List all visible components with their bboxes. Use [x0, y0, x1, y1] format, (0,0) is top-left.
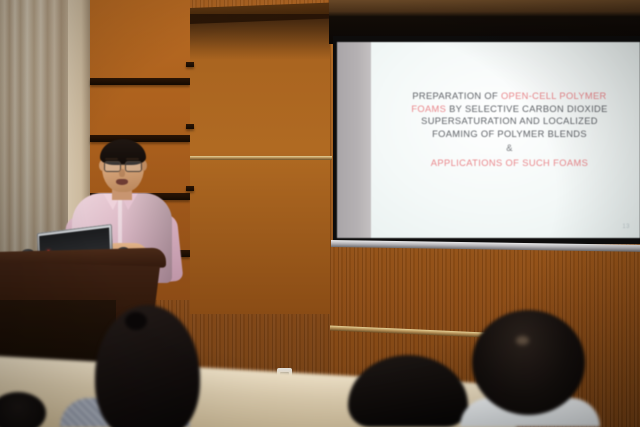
wall-groove-edge	[186, 186, 194, 191]
slide-line-final: APPLICATIONS OF SUCH FOAMS	[387, 157, 632, 170]
presenter-mouth	[116, 179, 128, 185]
glasses-bridge	[119, 164, 125, 165]
audience-member-right	[472, 310, 585, 415]
slide-line-2-normal: BY SELECTIVE CARBON DIOXIDE	[446, 104, 608, 114]
slide-line-1-normal: PREPARATION OF	[412, 91, 501, 101]
slide-line-1: PREPARATION OF OPEN-CELL POLYMER	[387, 90, 632, 103]
presenter-eyebrow-right	[126, 158, 139, 160]
glasses-lens-right	[125, 161, 142, 172]
slide-line-4: FOAMING OF POLYMER BLENDS	[387, 128, 632, 141]
slide-title-text: PREPARATION OF OPEN-CELL POLYMER FOAMS B…	[387, 90, 632, 169]
brass-trim	[190, 156, 332, 160]
slide-line-3: SUPERSATURATION AND LOCALIZED	[387, 115, 632, 128]
presenter-eyebrow-left	[105, 158, 118, 160]
wall-groove-edge	[186, 124, 194, 129]
projection-screen: PREPARATION OF OPEN-CELL POLYMER FOAMS B…	[337, 42, 640, 238]
slide-ampersand: &	[387, 142, 632, 155]
slide-line-2: FOAMS BY SELECTIVE CARBON DIOXIDE	[387, 103, 632, 116]
slide-line-1-highlight: OPEN-CELL POLYMER	[501, 91, 607, 101]
presentation-photo: PREPARATION OF OPEN-CELL POLYMER FOAMS B…	[0, 0, 640, 427]
audience-member-left-hair-tie	[125, 312, 147, 330]
wall-groove	[90, 78, 190, 85]
slide-page-number: 13	[622, 224, 630, 230]
wall-groove	[90, 135, 190, 142]
presenter-nose	[119, 169, 125, 177]
audience-member-right-hair-part	[516, 336, 529, 345]
screen-unused-band	[337, 42, 371, 238]
wall-alcove-shadow	[190, 14, 330, 60]
slide-line-2-highlight: FOAMS	[411, 104, 446, 114]
wall-groove-edge	[186, 62, 194, 67]
